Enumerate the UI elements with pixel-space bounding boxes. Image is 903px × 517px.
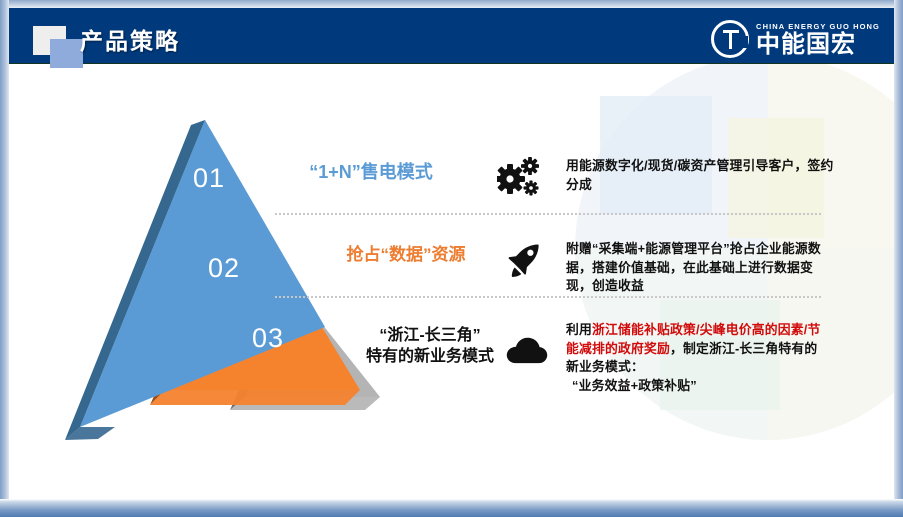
row-1-title: “1+N”售电模式 xyxy=(256,162,486,182)
slide-header-bar: 产品策略 CHINA ENERGY GUO HONG 中能国宏 xyxy=(8,8,894,64)
company-logo: CHINA ENERGY GUO HONG 中能国宏 xyxy=(711,19,880,59)
row-divider xyxy=(275,296,821,298)
logo-mark-gap xyxy=(738,36,748,48)
row-2-body: 附赠“采集端+能源管理平台”抢占企业能源数据，搭建价值基础，在此基础上进行数据变… xyxy=(566,240,836,296)
pyramid-level-3-number: 03 xyxy=(252,323,284,354)
slide-canvas: 产品策略 CHINA ENERGY GUO HONG 中能国宏 xyxy=(0,0,903,517)
pyramid-level-1-number: 01 xyxy=(193,163,225,194)
row-1-body-text: 用能源数字化/现货/碳资产管理引导客户，签约分成 xyxy=(566,158,833,192)
logo-mark-icon xyxy=(711,20,749,58)
cloud-icon xyxy=(505,334,551,380)
logo-english-name: CHINA ENERGY GUO HONG xyxy=(756,22,880,32)
slide-frame-bottom xyxy=(0,499,903,517)
row-3-title-line1: “浙江-长三角” xyxy=(345,325,515,346)
row-3-title: “浙江-长三角” 特有的新业务模式 xyxy=(345,325,515,367)
slide-frame-left xyxy=(0,0,9,517)
pyramid-level-2-base xyxy=(150,390,360,405)
header-square-blue-icon xyxy=(50,39,83,68)
row-2-title: 抢占“数据”资源 xyxy=(306,245,506,265)
slide-frame-top xyxy=(0,0,903,8)
row-divider xyxy=(275,213,821,215)
pyramid-level-2-number: 02 xyxy=(208,253,240,284)
gears-icon xyxy=(497,155,543,201)
page-title: 产品策略 xyxy=(80,22,180,56)
row-2-body-text: 附赠“采集端+能源管理平台”抢占企业能源数据，搭建价值基础，在此基础上进行数据变… xyxy=(566,241,821,293)
watermark-block xyxy=(600,96,712,214)
logo-chinese-name: 中能国宏 xyxy=(756,32,880,57)
pyramid-diagram: 01 02 03 xyxy=(60,105,390,450)
row-3-body-part-1: 利用 xyxy=(566,322,592,337)
row-1-body: 用能源数字化/现货/碳资产管理引导客户，签约分成 xyxy=(566,157,836,194)
row-3-body-part-4: “业务效益+政策补贴” xyxy=(566,378,697,393)
row-3-title-line2: 特有的新业务模式 xyxy=(345,346,515,367)
logo-text: CHINA ENERGY GUO HONG 中能国宏 xyxy=(756,22,880,57)
rocket-icon xyxy=(503,241,549,287)
row-3-body: 利用浙江储能补贴政策/尖峰电价高的因素/节能减排的政府奖励，制定浙江-长三角特有… xyxy=(566,321,828,395)
